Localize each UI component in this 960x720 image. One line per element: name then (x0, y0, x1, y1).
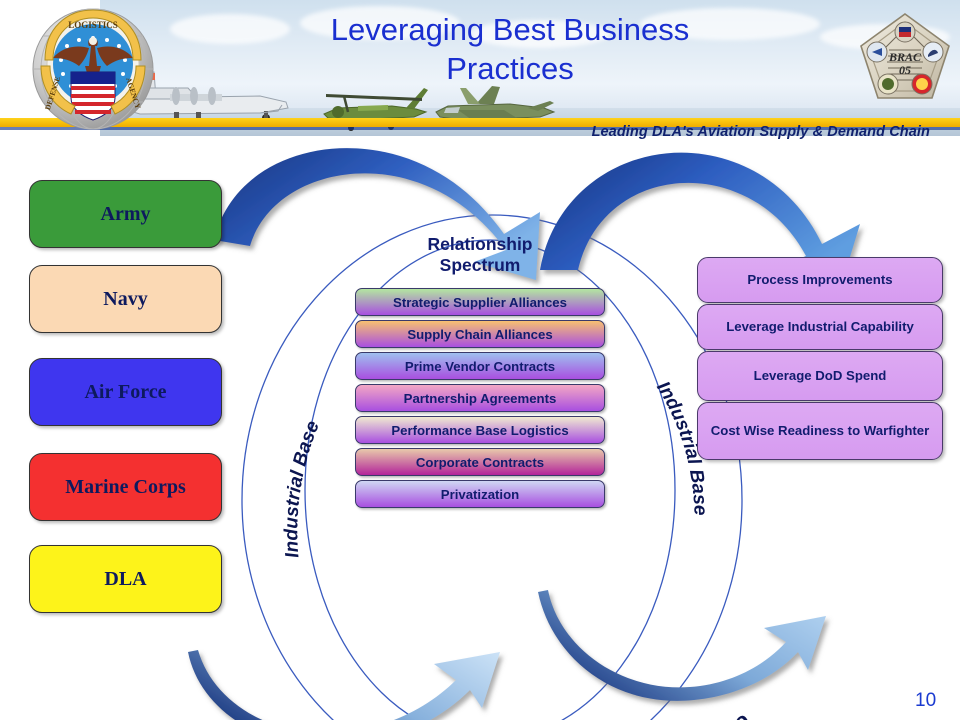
spectrum-bar-strategic-supplier-alliances[interactable]: Strategic Supplier Alliances (355, 288, 605, 316)
spectrum-bar-label: Performance Base Logistics (391, 423, 568, 438)
service-box-label: DLA (104, 568, 146, 591)
outcome-box-leverage-industrial-capability[interactable]: Leverage Industrial Capability (697, 304, 943, 350)
service-box-label: Army (101, 203, 151, 226)
spectrum-bar-label: Prime Vendor Contracts (405, 359, 555, 374)
service-box-navy[interactable]: Navy (29, 265, 222, 333)
outcome-box-cost-wise-readiness[interactable]: Cost Wise Readiness to Warfighter (697, 402, 943, 460)
outcome-box-label: Cost Wise Readiness to Warfighter (711, 423, 930, 439)
service-box-air-force[interactable]: Air Force (29, 358, 222, 426)
service-box-dla[interactable]: DLA (29, 545, 222, 613)
service-box-label: Air Force (84, 381, 166, 404)
page-title-line2: Practices (210, 49, 810, 88)
outcome-box-label: Leverage Industrial Capability (726, 319, 914, 335)
service-box-marine-corps[interactable]: Marine Corps (29, 453, 222, 521)
page-title-line1: Leveraging Best Business (210, 10, 810, 49)
relationship-spectrum-title: Relationship Spectrum (358, 234, 602, 276)
industrial-base-label-left: Industrial Base (281, 417, 324, 558)
spectrum-bar-performance-base-logistics[interactable]: Performance Base Logistics (355, 416, 605, 444)
spectrum-bar-label: Partnership Agreements (404, 391, 557, 406)
dla-seal-top-text: LOGISTICS (68, 20, 118, 30)
spectrum-bar-label: Privatization (441, 487, 519, 502)
service-box-army[interactable]: Army (29, 180, 222, 248)
arrow-spectrum-to-services (188, 650, 500, 720)
page-title: Leveraging Best Business Practices (210, 10, 810, 88)
brac-logo-line2: 05 (899, 63, 911, 77)
spectrum-bar-prime-vendor-contracts[interactable]: Prime Vendor Contracts (355, 352, 605, 380)
service-box-label: Navy (103, 288, 147, 311)
service-box-label: Marine Corps (65, 476, 186, 499)
spectrum-title-line2: Spectrum (358, 255, 602, 276)
spectrum-bar-label: Supply Chain Alliances (407, 327, 552, 342)
spectrum-bar-supply-chain-alliances[interactable]: Supply Chain Alliances (355, 320, 605, 348)
slide-root: Leveraging Best Business Practices Leadi… (0, 0, 960, 720)
brac-05-logo: BRAC 05 (855, 8, 955, 108)
spectrum-title-line1: Relationship (358, 234, 602, 255)
spectrum-bar-partnership-agreements[interactable]: Partnership Agreements (355, 384, 605, 412)
dla-seal-logo: LOGISTICS DEFENSE AGENCY (27, 2, 160, 135)
industrial-base-label-bottom: Industrial Base (586, 707, 756, 720)
outcome-box-leverage-dod-spend[interactable]: Leverage DoD Spend (697, 351, 943, 401)
page-number: 10 (915, 690, 936, 712)
outcome-box-process-improvements[interactable]: Process Improvements (697, 257, 943, 303)
slide-header: Leveraging Best Business Practices Leadi… (0, 0, 960, 140)
spectrum-bar-label: Strategic Supplier Alliances (393, 295, 567, 310)
outcome-box-label: Process Improvements (747, 272, 892, 288)
spectrum-bar-corporate-contracts[interactable]: Corporate Contracts (355, 448, 605, 476)
spectrum-bar-label: Corporate Contracts (416, 455, 544, 470)
brac-logo-line1: BRAC (888, 50, 922, 64)
spectrum-bar-privatization[interactable]: Privatization (355, 480, 605, 508)
outcome-box-label: Leverage DoD Spend (754, 368, 887, 384)
